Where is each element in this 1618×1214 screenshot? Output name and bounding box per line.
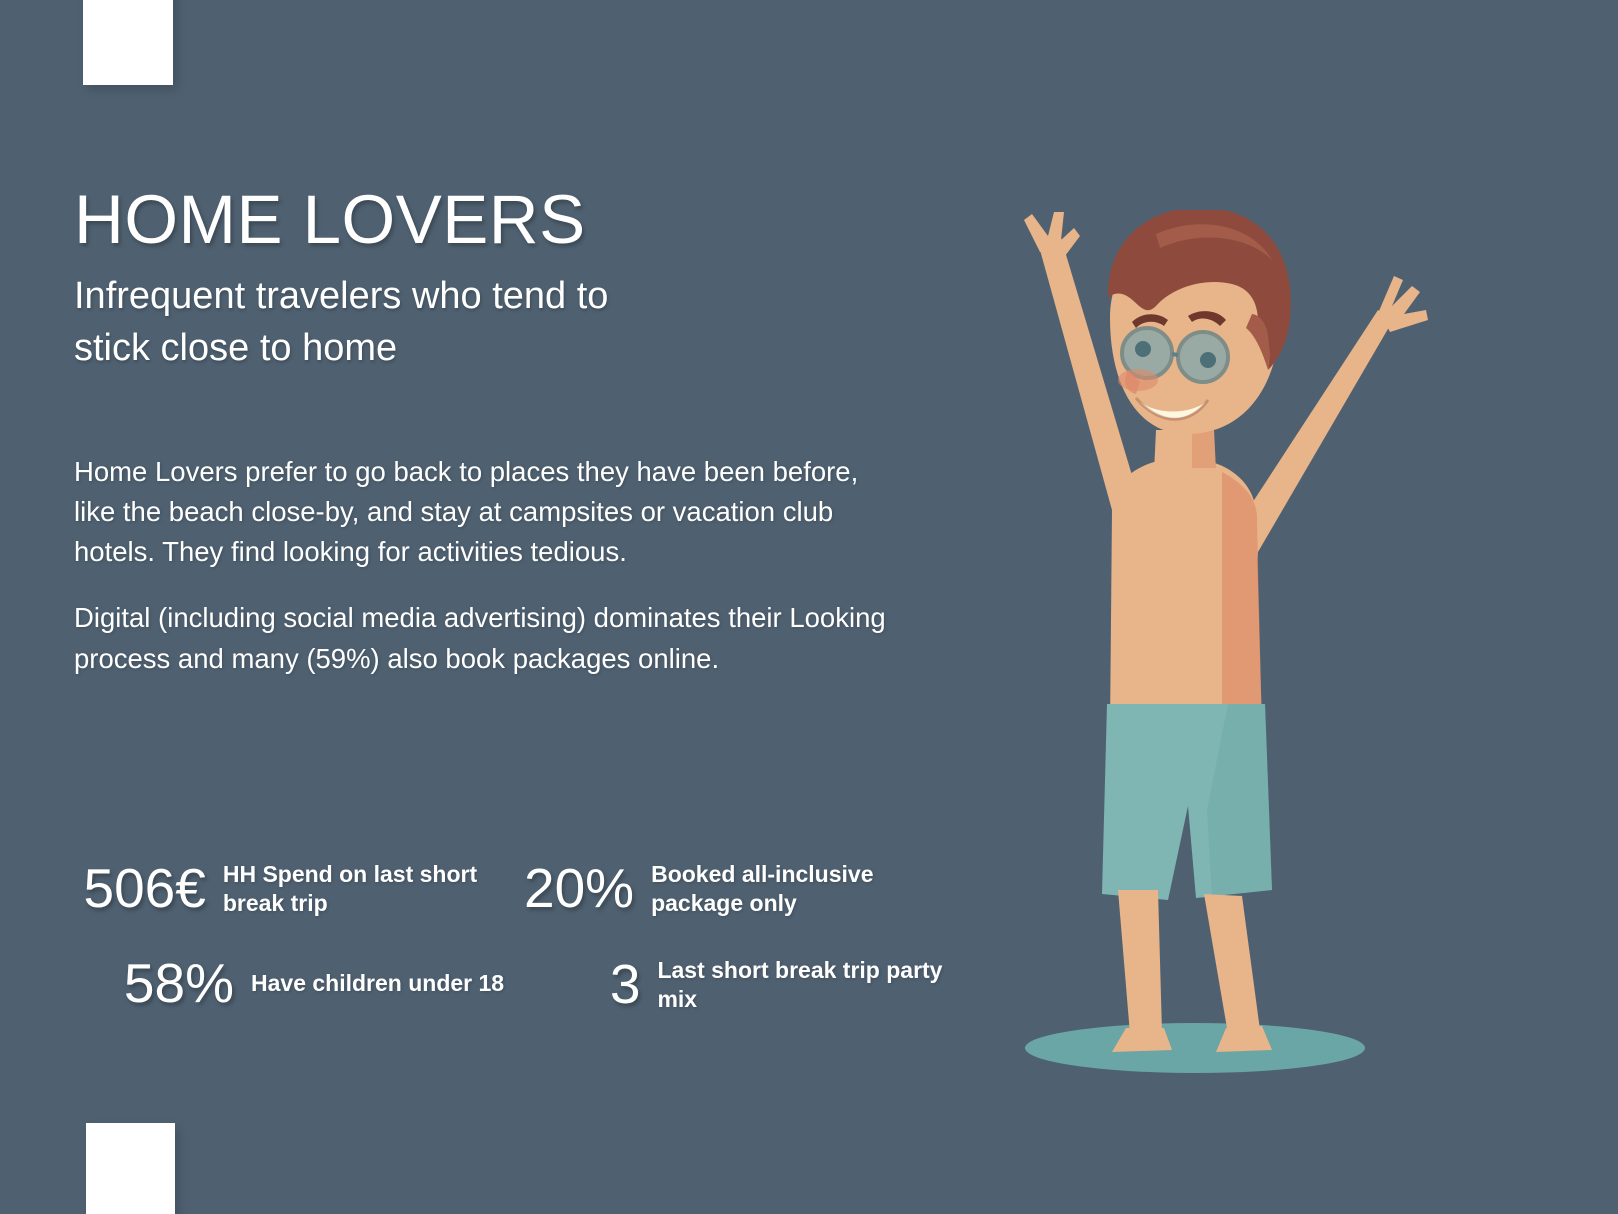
stat-value: 3 [524,957,640,1012]
stat-value: 20% [524,861,634,916]
body-paragraph-1: Home Lovers prefer to go back to places … [74,452,904,572]
left-leg [1118,890,1162,1034]
torso-shading [1222,472,1262,730]
body-copy: Home Lovers prefer to go back to places … [74,452,904,679]
stat-value: 58% [74,956,234,1011]
ground-shadow [1025,1023,1365,1073]
persona-slide: HOME LOVERS Infrequent travelers who ten… [0,0,1618,1214]
page-title: HOME LOVERS [74,185,586,254]
stat-value: 506€ [74,861,206,916]
cheek-blush [1118,369,1158,391]
page-subtitle: Infrequent travelers who tend to stick c… [74,270,674,375]
right-leg [1204,894,1260,1034]
text-column: HOME LOVERS Infrequent travelers who ten… [74,0,954,1214]
cheering-boy-illustration [960,210,1500,1090]
stat-label: HH Spend on last short break trip [223,860,524,918]
stats-row: 58% Have children under 18 3 Last short … [74,956,954,1014]
left-hand [1024,212,1080,260]
right-hand [1379,276,1428,332]
stat-label: Last short break trip party mix [657,956,954,1014]
stat-label: Booked all-inclusive package only [651,860,954,918]
stats-row: 506€ HH Spend on last short break trip 2… [74,860,954,918]
stat-hh-spend: 506€ HH Spend on last short break trip [74,860,524,918]
stat-party-mix: 3 Last short break trip party mix [524,956,954,1014]
stat-all-inclusive: 20% Booked all-inclusive package only [524,860,954,918]
stat-label: Have children under 18 [251,969,504,998]
neck-shading [1192,430,1216,468]
stats-grid: 506€ HH Spend on last short break trip 2… [74,860,954,1014]
body-paragraph-2: Digital (including social media advertis… [74,598,904,678]
stat-children-under-18: 58% Have children under 18 [74,956,524,1011]
